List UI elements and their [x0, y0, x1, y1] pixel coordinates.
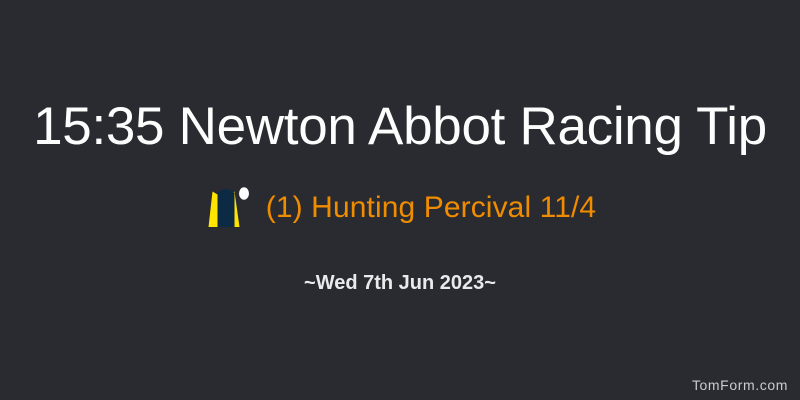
racing-silks-icon — [204, 186, 252, 230]
page-title: 15:35 Newton Abbot Racing Tip — [0, 96, 800, 158]
selection-label: (1) Hunting Percival 11/4 — [266, 190, 596, 226]
race-date: ~Wed 7th Jun 2023~ — [0, 270, 800, 296]
selection-row: (1) Hunting Percival 11/4 — [0, 186, 800, 230]
racing-tip-card: 15:35 Newton Abbot Racing Tip (1) Huntin… — [0, 0, 800, 400]
site-watermark: TomForm.com — [692, 376, 788, 394]
